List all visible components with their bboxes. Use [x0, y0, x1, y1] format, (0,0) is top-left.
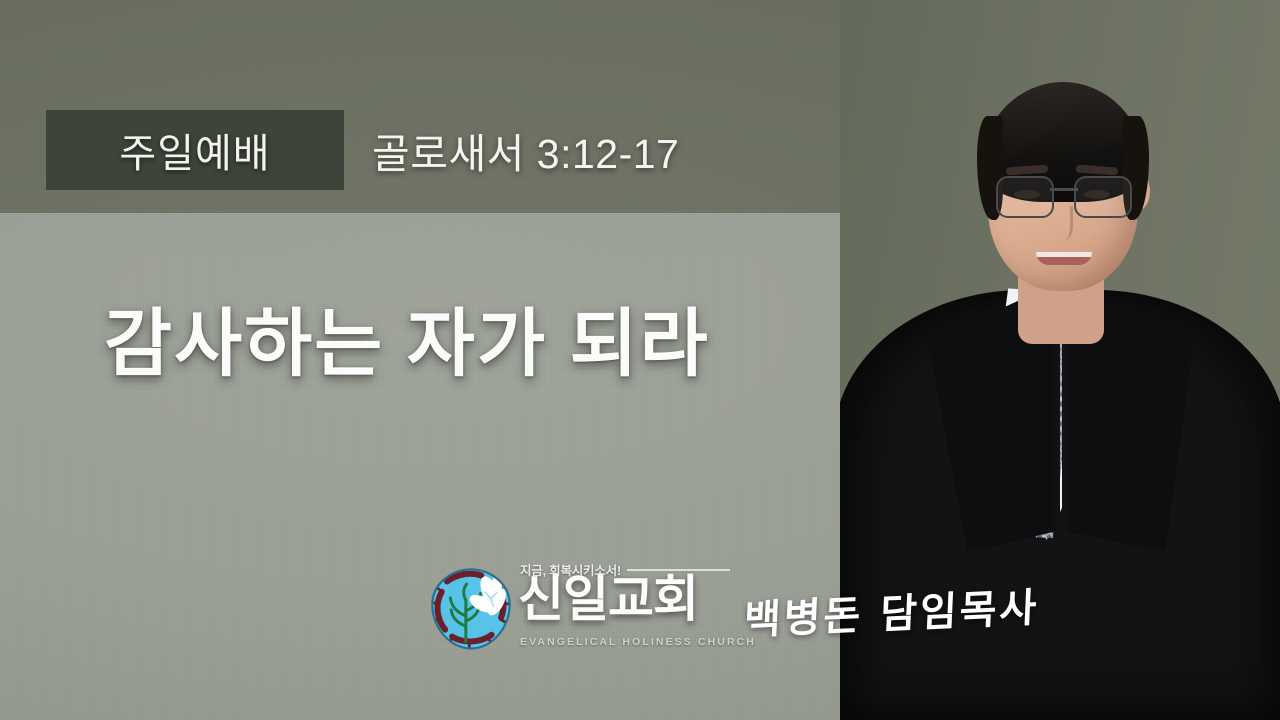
church-english-name: EVANGELICAL HOLINESS CHURCH — [520, 636, 732, 648]
portrait-mouth — [1036, 252, 1092, 265]
eyeglass-lens-left — [996, 176, 1054, 218]
portrait-nose — [1052, 206, 1073, 240]
service-type-badge: 주일예배 — [46, 110, 344, 190]
sermon-title: 감사하는 자가 되라 — [104, 305, 710, 383]
church-wordmark: 지금, 회복시키소서! 신일교회 EVANGELICAL HOLINESS CH… — [520, 558, 730, 662]
service-type-label: 주일예배 — [119, 121, 270, 179]
sermon-title-slide: 주일예배 골로새서 3:12-17 감사하는 자가 되라 — [0, 0, 1280, 720]
church-name: 신일교회 — [518, 574, 698, 624]
scripture-reference: 골로새서 3:12-17 — [372, 110, 679, 190]
pastor-signature: 백병돈 담임목사 — [742, 565, 1065, 655]
church-logo: 지금, 회복시키소서! 신일교회 EVANGELICAL HOLINESS CH… — [428, 558, 728, 662]
eyeglass-lens-right — [1074, 176, 1132, 218]
crown-of-thorns-lily-emblem — [428, 566, 514, 652]
